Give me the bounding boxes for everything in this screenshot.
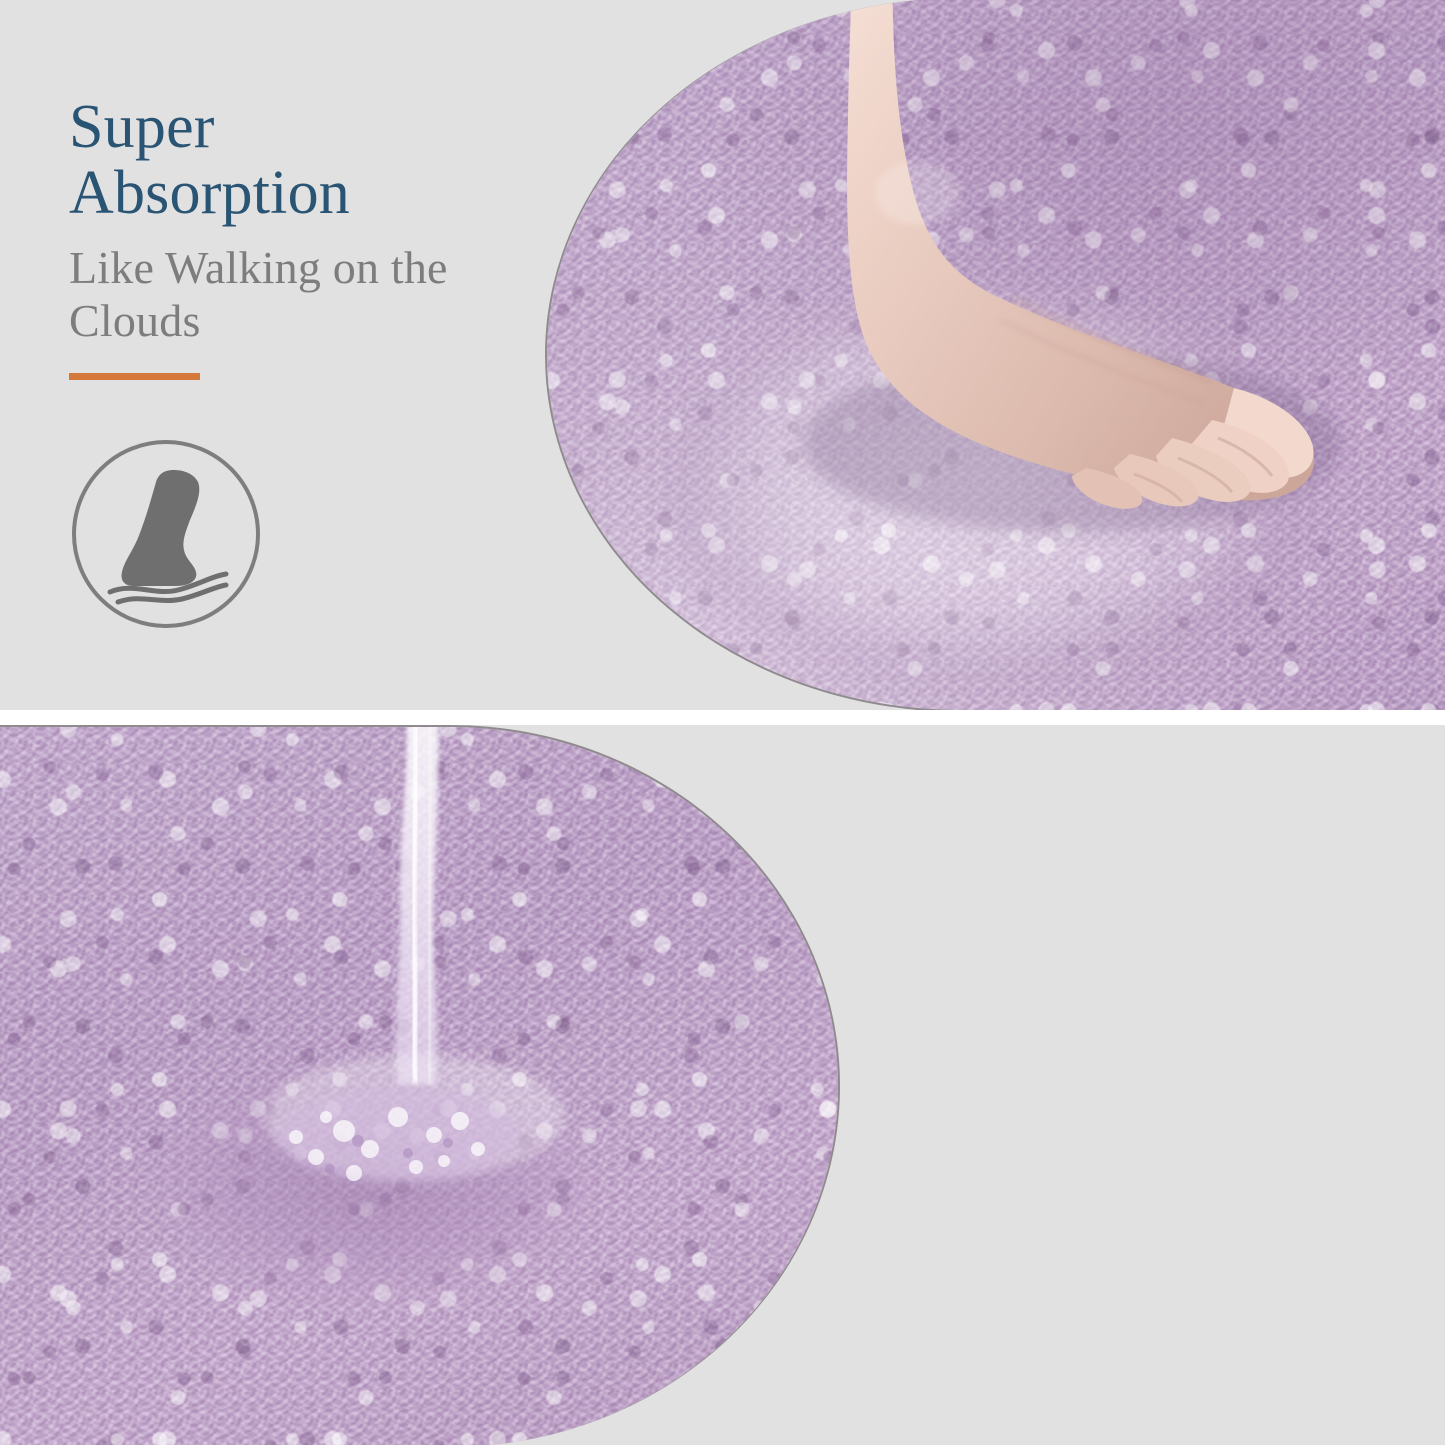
top-accent-bar [69, 373, 200, 380]
top-headline: Super Absorption [69, 95, 499, 226]
bare-foot-illustration [742, 0, 1382, 548]
panel-top: Super Absorption Like Walking on the Clo… [0, 0, 1445, 710]
product-infographic: Super Absorption Like Walking on the Clo… [0, 0, 1445, 1445]
foot-wave-icon [72, 440, 260, 628]
water-stream-illustration [148, 725, 708, 1317]
water-poured-on-rug-photo [0, 725, 840, 1445]
foot-on-rug-photo [545, 0, 1445, 710]
top-subline: Like Walking on the Clouds [69, 242, 499, 347]
panel-bottom: Super Absorption Prevents Water Stains o… [0, 725, 1445, 1445]
top-text-block: Super Absorption Like Walking on the Clo… [69, 95, 499, 380]
